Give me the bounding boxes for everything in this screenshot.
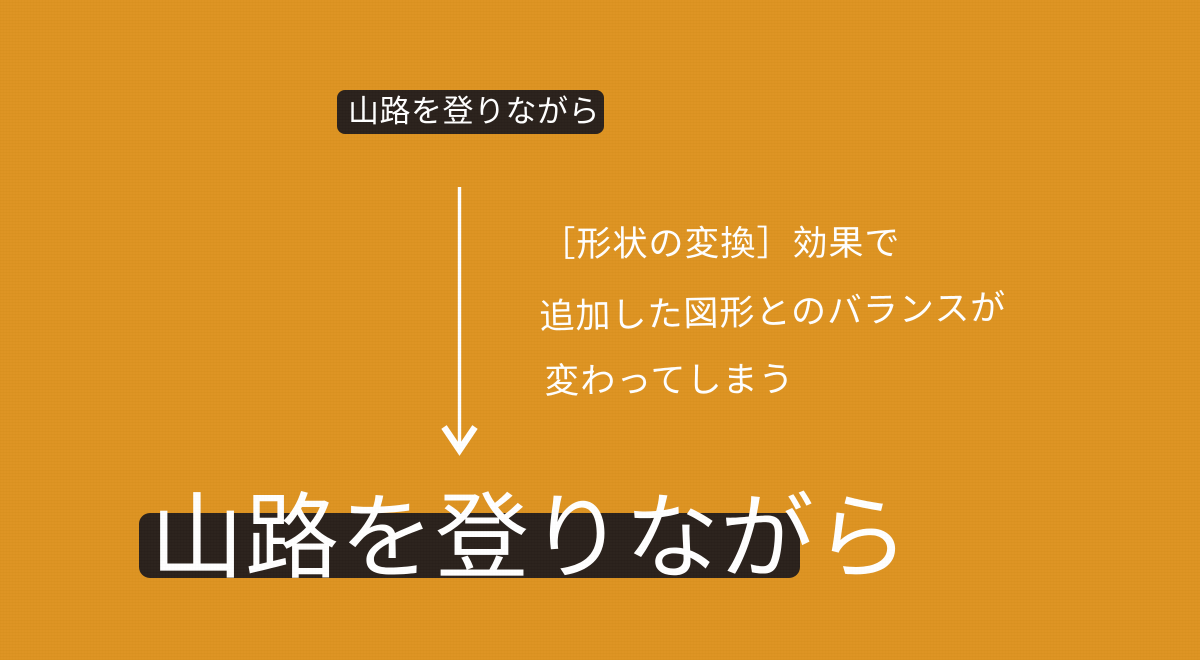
top-label-text: 山路を登りながら — [348, 96, 600, 127]
bottom-label-text: 山路を登りながら — [150, 492, 910, 586]
annotation-line-1: ［形状の変換］効果で — [540, 209, 1100, 279]
annotation-line-3: 変わってしまう — [544, 344, 1104, 416]
down-arrow-svg — [429, 182, 491, 458]
handwritten-annotation: ［形状の変換］効果で 追加した図形とのバランスが 変わってしまう — [538, 206, 1101, 418]
down-arrow-icon — [429, 182, 491, 458]
slide-canvas: 山路を登りながら ［形状の変換］効果で 追加した図形とのバランスが 変わってしま… — [0, 0, 1200, 660]
annotation-line-2: 追加した図形とのバランスが — [539, 273, 1100, 352]
